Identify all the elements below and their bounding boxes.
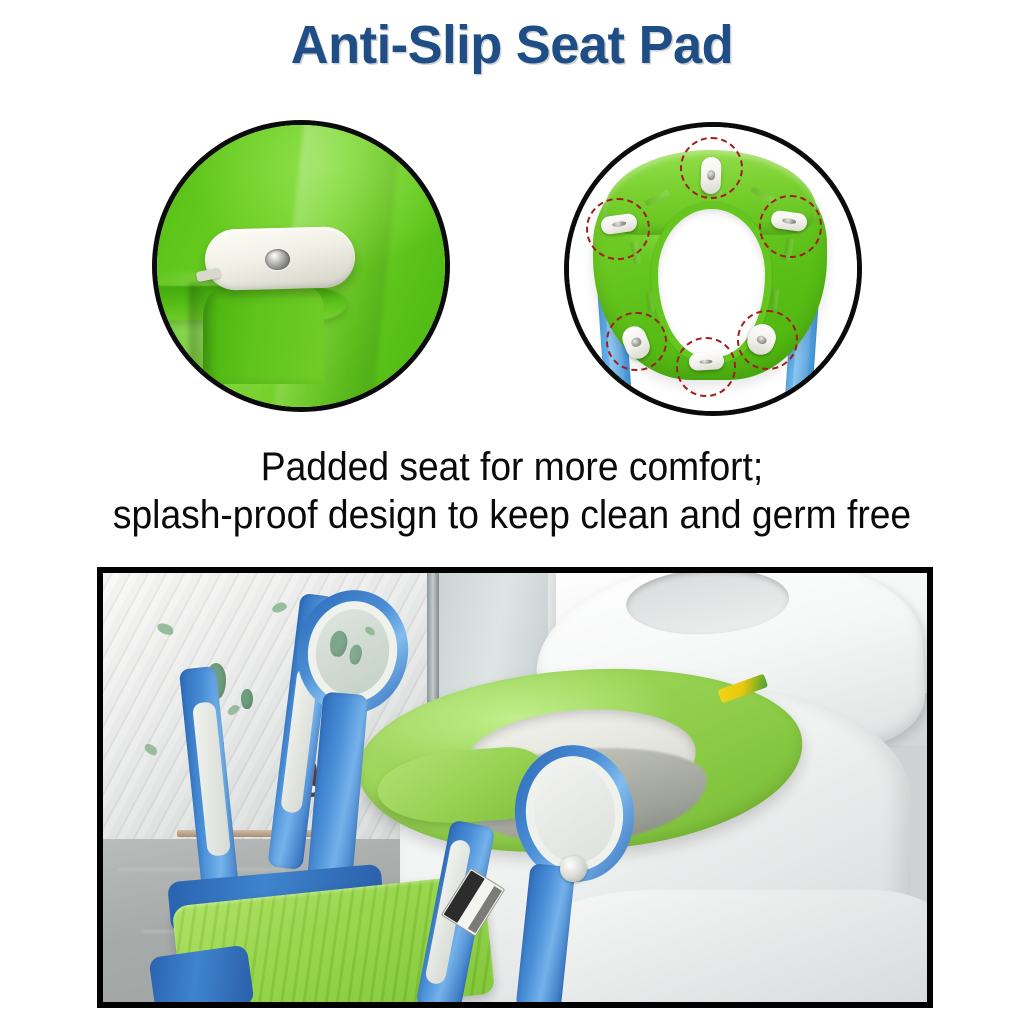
pad-closeup-circle xyxy=(152,120,450,412)
pad-top xyxy=(701,156,722,194)
caption-line-1: Padded seat for more comfort; xyxy=(36,443,988,491)
pad-closeup-image xyxy=(157,125,445,407)
pad-screw-icon xyxy=(708,170,716,180)
anti-slip-pad xyxy=(204,226,355,291)
seat-underside-circle xyxy=(564,122,862,416)
page-title: Anti-Slip Seat Pad xyxy=(15,16,1008,74)
feature-caption: Padded seat for more comfort; splash-pro… xyxy=(36,443,988,539)
pad-screw-icon xyxy=(612,221,626,228)
pad-screw-icon xyxy=(630,336,642,347)
toilet-lid-opening xyxy=(624,573,790,639)
caption-line-2: splash-proof design to keep clean and ge… xyxy=(36,491,988,539)
height-adjust-knob[interactable] xyxy=(560,856,586,882)
toilet-base xyxy=(531,890,927,1002)
seat-inner-wall xyxy=(203,289,324,385)
bathroom-scene xyxy=(103,573,927,1002)
pad-bottom xyxy=(688,352,723,371)
pad-screw-icon xyxy=(264,248,290,270)
seat-shadow-edge xyxy=(189,283,218,396)
seat-underside-image xyxy=(569,127,857,411)
pad-screw-icon xyxy=(699,359,712,364)
product-in-use-photo xyxy=(97,567,933,1008)
pad-screw-icon xyxy=(781,218,795,225)
pad-screw-icon xyxy=(755,334,768,345)
